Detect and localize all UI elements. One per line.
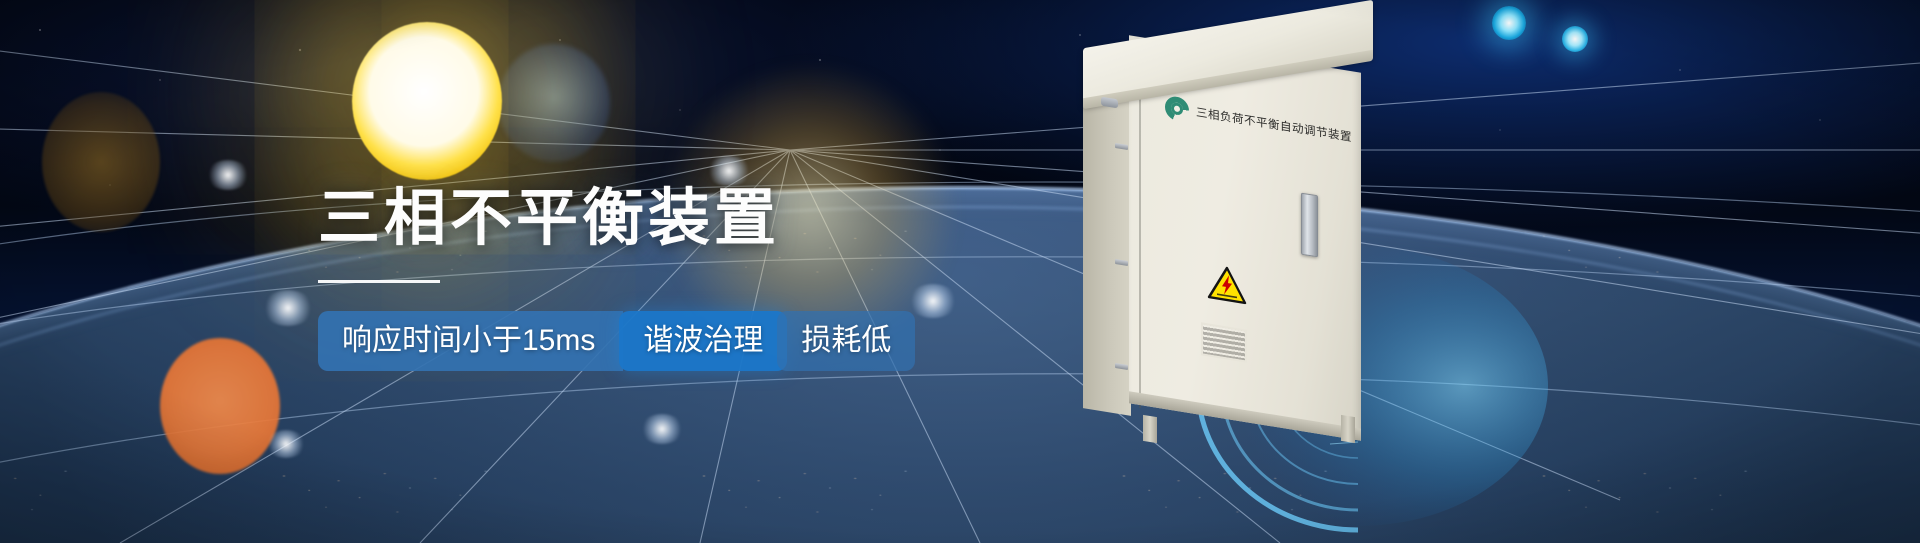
line-node-spark: [640, 414, 684, 444]
brand-emblem-icon: [1165, 95, 1189, 123]
blue-bokeh-orb: [498, 44, 610, 162]
white-yellow-bokeh-orb: [352, 22, 502, 180]
feature-badge-list: 响应时间小于15ms 谐波治理 损耗低: [318, 311, 915, 371]
line-node-spark: [908, 284, 958, 318]
cabinet-door-handle[interactable]: [1301, 193, 1318, 258]
cabinet-front-door: [1129, 35, 1361, 441]
title-divider: [318, 280, 440, 283]
line-node-spark: [262, 290, 314, 326]
electrical-hazard-warning-icon: [1207, 263, 1247, 305]
line-node-spark: [206, 160, 250, 190]
feature-badge-harmonic-treatment[interactable]: 谐波治理: [619, 311, 787, 371]
line-node-spark: [706, 156, 752, 186]
hero-banner: 三相不平衡装置 响应时间小于15ms 谐波治理 损耗低 三相负荷不平衡自动调节装…: [0, 0, 1920, 543]
amber-bokeh-orb: [42, 92, 160, 232]
orange-bokeh-orb: [160, 338, 280, 474]
hero-copy: 三相不平衡装置 响应时间小于15ms 谐波治理 损耗低: [318, 188, 915, 371]
feature-badge-low-loss[interactable]: 损耗低: [777, 311, 915, 371]
feature-badge-response-time[interactable]: 响应时间小于15ms: [318, 311, 623, 371]
cabinet-side-panel: [1083, 56, 1131, 416]
page-title: 三相不平衡装置: [318, 188, 915, 250]
cyan-glow-orb-a: [1492, 6, 1526, 40]
product-cabinet: 三相负荷不平衡自动调节装置: [1055, 24, 1385, 444]
cabinet-foot-right: [1341, 415, 1355, 443]
cabinet-door-seam: [1139, 72, 1141, 408]
line-node-spark: [266, 430, 306, 458]
cyan-glow-orb-b: [1562, 26, 1588, 52]
cabinet-foot-left: [1143, 415, 1157, 443]
